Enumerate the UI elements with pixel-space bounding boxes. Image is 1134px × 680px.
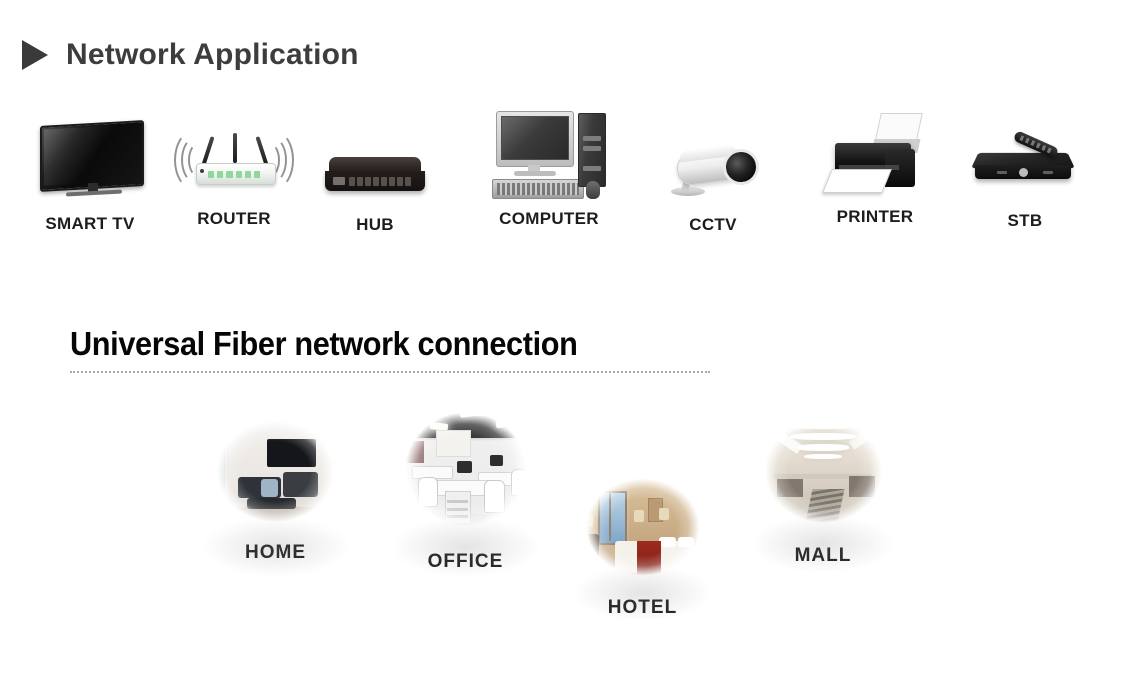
- device-label-hub: HUB: [322, 215, 428, 235]
- hotel-window-mullion: [609, 491, 611, 541]
- stb-power-button: [1019, 168, 1028, 177]
- device-label-router: ROUTER: [176, 209, 292, 229]
- home-coffee-table: [247, 498, 296, 509]
- hotel-bedroom-photo: [573, 467, 713, 587]
- monitor-screen: [501, 116, 569, 160]
- device-item-cctv: CCTV: [662, 131, 764, 235]
- mall-balcony-2: [790, 433, 857, 441]
- device-item-smart-tv: SMART TV: [30, 119, 150, 234]
- hub-port-row: [349, 177, 411, 186]
- mall-storefront-right: [849, 476, 875, 496]
- page-title: Network Application: [66, 38, 359, 72]
- pc-tower: [578, 113, 606, 187]
- home-armchair: [261, 479, 278, 497]
- hotel-chair: [581, 534, 599, 560]
- device-item-hub: HUB: [322, 131, 428, 235]
- home-wall-tv: [267, 439, 316, 467]
- device-list: SMART TV ROUTER: [0, 105, 1134, 250]
- hotel-pillow-1: [659, 537, 676, 548]
- mouse: [586, 181, 600, 199]
- network-hub-icon: [323, 131, 427, 201]
- scenario-item-mall: MALL: [748, 407, 898, 567]
- desktop-computer-icon: [490, 109, 608, 201]
- office-chair-3: [511, 469, 530, 496]
- hotel-window: [598, 491, 627, 545]
- office-chair-2: [484, 480, 506, 513]
- hotel-lamp-2: [634, 510, 644, 522]
- set-top-box-icon: [969, 135, 1081, 197]
- device-item-router: ROUTER: [176, 117, 292, 229]
- scenario-item-home: HOME: [198, 409, 353, 564]
- monitor-base: [514, 171, 556, 176]
- smart-tv-icon: [36, 119, 144, 199]
- router-antenna-center: [233, 133, 237, 163]
- shopping-mall-atrium-photo: [751, 407, 896, 535]
- mall-balcony-1: [782, 420, 863, 429]
- hotel-bed-runner: [637, 541, 661, 577]
- home-console: [283, 472, 318, 497]
- tv-stand: [66, 190, 122, 197]
- keyboard: [492, 179, 584, 199]
- mall-storefront-left: [777, 479, 803, 497]
- play-triangle-icon: [22, 40, 48, 70]
- router-led-row: [208, 171, 260, 178]
- stb-led-right: [1043, 171, 1053, 174]
- network-application-heading: Network Application: [22, 38, 359, 72]
- hub-brand-badge: [333, 177, 345, 185]
- mall-escalator-steps: [805, 489, 844, 522]
- mall-balcony-3: [797, 444, 849, 450]
- device-item-printer: PRINTER: [824, 113, 926, 227]
- scenario-item-hotel: HOTEL: [570, 467, 715, 619]
- office-drawer-unit: [445, 491, 471, 524]
- section-title: Universal Fiber network connection: [70, 325, 578, 363]
- stb-led-left: [997, 171, 1007, 174]
- printer-icon: [825, 113, 925, 199]
- device-label-smart-tv: SMART TV: [30, 214, 150, 234]
- office-monitor-1: [457, 461, 472, 474]
- device-item-computer: COMPUTER: [489, 109, 609, 229]
- device-label-stb: STB: [968, 211, 1082, 231]
- device-label-cctv: CCTV: [662, 215, 764, 235]
- device-label-printer: PRINTER: [824, 207, 926, 227]
- cctv-camera-icon: [663, 131, 763, 201]
- office-monitor-2: [490, 455, 504, 466]
- office-back-wall-accent: [403, 441, 424, 463]
- router-power-led: [200, 169, 204, 173]
- scenario-list: HOME: [0, 395, 1134, 645]
- heading-underline: [70, 371, 710, 373]
- slide-canvas: Network Application SMART TV: [0, 0, 1134, 680]
- hotel-lamp-1: [584, 515, 594, 527]
- home-window: [207, 432, 225, 489]
- printer-output-paper: [822, 169, 892, 193]
- universal-fiber-heading: Universal Fiber network connection: [70, 325, 616, 363]
- open-office-photo: [391, 399, 541, 539]
- device-item-stb: STB: [968, 135, 1082, 231]
- office-chair-1: [418, 477, 438, 507]
- wifi-router-icon: [178, 117, 290, 197]
- tv-glare: [44, 124, 136, 185]
- office-partition: [436, 430, 471, 457]
- living-room-photo: [203, 409, 348, 534]
- scenario-item-office: OFFICE: [388, 399, 543, 573]
- hotel-pillow-2: [678, 537, 695, 548]
- hotel-lamp-3: [659, 508, 669, 520]
- home-floor: [203, 507, 348, 535]
- device-label-computer: COMPUTER: [489, 209, 609, 229]
